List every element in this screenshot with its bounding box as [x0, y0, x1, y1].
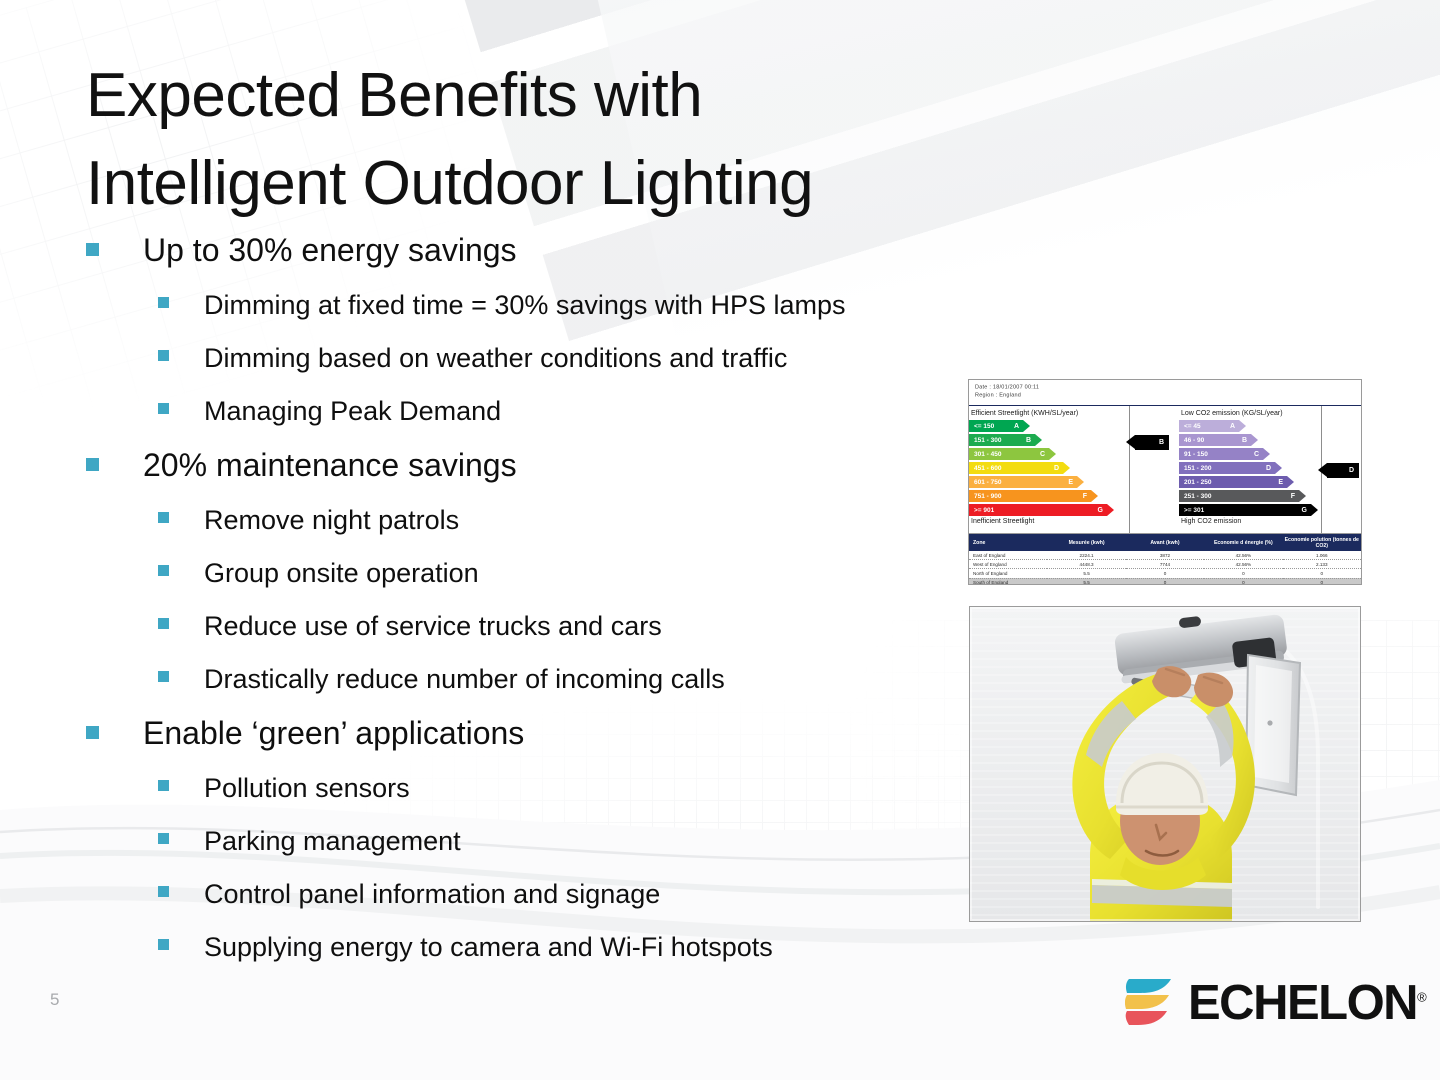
echelon-wordmark-text: ECHELON [1188, 976, 1417, 1030]
epc-header: Date : 18/01/2007 00:11 Region : England [969, 380, 1361, 406]
left-band-range: <= 150 [974, 423, 994, 430]
bullet-text: Supplying energy to camera and Wi-Fi hot… [204, 922, 773, 972]
bullet-text: Up to 30% energy savings [143, 224, 517, 276]
left-band-D: 451 - 600D [969, 462, 1063, 474]
epc-table-row: West of England4448.3774442.56%2.133 [969, 560, 1361, 569]
bullet-marker-icon [158, 350, 169, 361]
right-band-range: >= 301 [1184, 507, 1204, 514]
epc-table-cell: 42.56% [1204, 560, 1282, 569]
epc-co2-bottom-caption: High CO2 emission [1181, 518, 1321, 525]
epc-table-cell: 0 [1126, 569, 1204, 578]
right-band-grade: E [1278, 476, 1283, 488]
bullet-item-level-2: Group onsite operation [86, 548, 1006, 598]
bullet-item-level-2: Dimming at fixed time = 30% savings with… [86, 280, 1006, 330]
left-band-range: 301 - 450 [974, 451, 1001, 458]
bullet-marker-icon [158, 886, 169, 897]
right-band-range: 251 - 300 [1184, 493, 1211, 500]
right-band-F: 251 - 300F [1179, 490, 1299, 502]
right-band-range: 46 - 90 [1184, 437, 1204, 444]
bullet-item-level-2: Remove night patrols [86, 495, 1006, 545]
bullet-marker-icon [86, 458, 99, 471]
epc-co2-bands: <= 45A46 - 90B91 - 150C151 - 200D201 - 2… [1179, 420, 1321, 516]
bullet-item-level-1: Up to 30% energy savings [86, 224, 1006, 276]
bullet-text: Control panel information and signage [204, 869, 660, 919]
epc-table-cell: 0 [1283, 569, 1361, 578]
epc-table-cell: 0 [1204, 569, 1282, 578]
bullet-text: Dimming based on weather conditions and … [204, 333, 787, 383]
echelon-logo-mark [1125, 975, 1175, 1032]
right-band-grade: A [1230, 420, 1235, 432]
page-number: 5 [50, 990, 59, 1010]
epc-table-cell: 1.066 [1283, 551, 1361, 560]
right-band-A: <= 45A [1179, 420, 1239, 432]
epc-table-column-header: Economie polution (tonnes de CO2) [1283, 534, 1361, 551]
epc-table-body: East of England2224.1387242.56%1.066West… [969, 551, 1361, 585]
slide-title: Expected Benefits with Intelligent Outdo… [86, 52, 1086, 228]
bullet-item-level-2: Drastically reduce number of incoming ca… [86, 654, 1006, 704]
presentation-slide: Expected Benefits with Intelligent Outdo… [0, 0, 1440, 1080]
epc-energy-current-grade-area: B [1133, 406, 1173, 533]
epc-energy-top-caption: Efficient Streetlight (KWH/SL/year) [971, 410, 1129, 417]
bullet-marker-icon [86, 726, 99, 739]
right-band-range: <= 45 [1184, 423, 1201, 430]
left-band-grade: C [1040, 448, 1045, 460]
bullet-text: Enable ‘green’ applications [143, 707, 524, 759]
bullet-text: 20% maintenance savings [143, 439, 517, 491]
left-band-grade: G [1098, 504, 1103, 516]
epc-table-cell: East of England [969, 551, 1047, 560]
epc-energy-current-grade: B [1135, 435, 1169, 450]
bullet-marker-icon [158, 565, 169, 576]
left-band-grade: A [1014, 420, 1019, 432]
bullet-text: Managing Peak Demand [204, 386, 501, 436]
epc-charts-row: Efficient Streetlight (KWH/SL/year) <= 1… [969, 406, 1361, 533]
slide-title-line-1: Expected Benefits with [86, 52, 1086, 140]
bullet-text: Reduce use of service trucks and cars [204, 601, 662, 651]
streetlight-maintenance-photo [969, 606, 1361, 922]
epc-table-column-header: Economie d énergie (%) [1204, 534, 1282, 551]
epc-table-header-row: ZoneMesurée (kwh)Avant (kwh)Economie d é… [969, 534, 1361, 551]
bullet-text: Group onsite operation [204, 548, 479, 598]
left-band-C: 301 - 450C [969, 448, 1049, 460]
bullet-item-level-2: Dimming based on weather conditions and … [86, 333, 1006, 383]
epc-table-row: East of England2224.1387242.56%1.066 [969, 551, 1361, 560]
right-band-grade: D [1266, 462, 1271, 474]
epc-energy-bottom-caption: Inefficient Streetlight [971, 518, 1129, 525]
slide-title-line-2: Intelligent Outdoor Lighting [86, 140, 1086, 228]
bullet-marker-icon [158, 403, 169, 414]
left-band-E: 601 - 750E [969, 476, 1077, 488]
epc-table-row: North of England5.5000 [969, 569, 1361, 578]
bullet-text: Drastically reduce number of incoming ca… [204, 654, 725, 704]
epc-table-cell: 0 [1126, 578, 1204, 585]
bullet-text: Pollution sensors [204, 763, 410, 813]
slide-bullet-list: Up to 30% energy savingsDimming at fixed… [86, 224, 1006, 975]
bullet-marker-icon [158, 671, 169, 682]
epc-energy-chart: Efficient Streetlight (KWH/SL/year) <= 1… [969, 406, 1129, 533]
epc-table-cell: 4448.3 [1047, 560, 1125, 569]
bullet-item-level-1: 20% maintenance savings [86, 439, 1006, 491]
left-band-grade: B [1026, 434, 1031, 446]
left-band-A: <= 150A [969, 420, 1023, 432]
bullet-marker-icon [158, 512, 169, 523]
epc-table-cell: 2224.1 [1047, 551, 1125, 560]
bullet-item-level-2: Managing Peak Demand [86, 386, 1006, 436]
epc-table-column-header: Avant (kwh) [1126, 534, 1204, 551]
epc-savings-table: ZoneMesurée (kwh)Avant (kwh)Economie d é… [969, 533, 1361, 585]
left-band-range: 601 - 750 [974, 479, 1001, 486]
bullet-marker-icon [158, 297, 169, 308]
right-band-range: 201 - 250 [1184, 479, 1211, 486]
bullet-item-level-2: Supplying energy to camera and Wi-Fi hot… [86, 922, 1006, 972]
epc-table-column-header: Zone [969, 534, 1047, 551]
echelon-wordmark: ECHELON® [1188, 979, 1427, 1028]
bullet-marker-icon [158, 780, 169, 791]
right-band-grade: B [1242, 434, 1247, 446]
bullet-text: Parking management [204, 816, 461, 866]
left-band-grade: E [1068, 476, 1073, 488]
epc-co2-current-grade: D [1327, 463, 1359, 478]
epc-table-row: South of England5.5000 [969, 578, 1361, 585]
bullet-text: Dimming at fixed time = 30% savings with… [204, 280, 846, 330]
right-band-B: 46 - 90B [1179, 434, 1251, 446]
left-band-F: 751 - 900F [969, 490, 1091, 502]
right-band-G: >= 301G [1179, 504, 1311, 516]
right-band-range: 91 - 150 [1184, 451, 1208, 458]
bullet-item-level-2: Reduce use of service trucks and cars [86, 601, 1006, 651]
right-band-grade: G [1302, 504, 1307, 516]
bullet-marker-icon [158, 833, 169, 844]
left-band-grade: F [1083, 490, 1087, 502]
epc-co2-current-grade-area: D [1325, 406, 1361, 533]
epc-table-column-header: Mesurée (kwh) [1047, 534, 1125, 551]
epc-table-cell: 3872 [1126, 551, 1204, 560]
bullet-marker-icon [86, 243, 99, 256]
left-band-range: 751 - 900 [974, 493, 1001, 500]
left-band-grade: D [1054, 462, 1059, 474]
bullet-marker-icon [158, 939, 169, 950]
epc-header-region: Region : England [975, 390, 1362, 400]
echelon-bars-icon [1125, 975, 1175, 1027]
bullet-marker-icon [158, 618, 169, 629]
epc-table-cell: 7744 [1126, 560, 1204, 569]
right-band-range: 151 - 200 [1184, 465, 1211, 472]
epc-table-cell: 2.133 [1283, 560, 1361, 569]
bullet-item-level-2: Pollution sensors [86, 763, 1006, 813]
registered-trademark-symbol: ® [1417, 990, 1427, 1005]
epc-table-cell: 5.5 [1047, 578, 1125, 585]
photo-illustration [970, 607, 1360, 921]
left-band-G: >= 901G [969, 504, 1107, 516]
bullet-text: Remove night patrols [204, 495, 459, 545]
epc-table-cell: 42.56% [1204, 551, 1282, 560]
epc-co2-chart: Low CO2 emission (KG/SL/year) <= 45A46 -… [1173, 406, 1321, 533]
epc-table-cell: 5.5 [1047, 569, 1125, 578]
right-band-C: 91 - 150C [1179, 448, 1263, 460]
bullet-item-level-2: Control panel information and signage [86, 869, 1006, 919]
left-band-range: >= 901 [974, 507, 994, 514]
right-band-D: 151 - 200D [1179, 462, 1275, 474]
energy-rating-chart-image: Date : 18/01/2007 00:11 Region : England… [968, 379, 1362, 585]
epc-table-cell: 0 [1204, 578, 1282, 585]
epc-table-cell: North of England [969, 569, 1047, 578]
left-band-range: 451 - 600 [974, 465, 1001, 472]
left-band-B: 151 - 300B [969, 434, 1035, 446]
bullet-item-level-2: Parking management [86, 816, 1006, 866]
epc-co2-top-caption: Low CO2 emission (KG/SL/year) [1181, 410, 1321, 417]
epc-table-cell: West of England [969, 560, 1047, 569]
bullet-item-level-1: Enable ‘green’ applications [86, 707, 1006, 759]
echelon-logo: ECHELON® [1125, 975, 1427, 1032]
right-band-grade: F [1291, 490, 1295, 502]
epc-energy-bands: <= 150A151 - 300B301 - 450C451 - 600D601… [969, 420, 1129, 516]
right-band-grade: C [1254, 448, 1259, 460]
epc-table-cell: 0 [1283, 578, 1361, 585]
right-band-E: 201 - 250E [1179, 476, 1287, 488]
left-band-range: 151 - 300 [974, 437, 1001, 444]
epc-table-cell: South of England [969, 578, 1047, 585]
